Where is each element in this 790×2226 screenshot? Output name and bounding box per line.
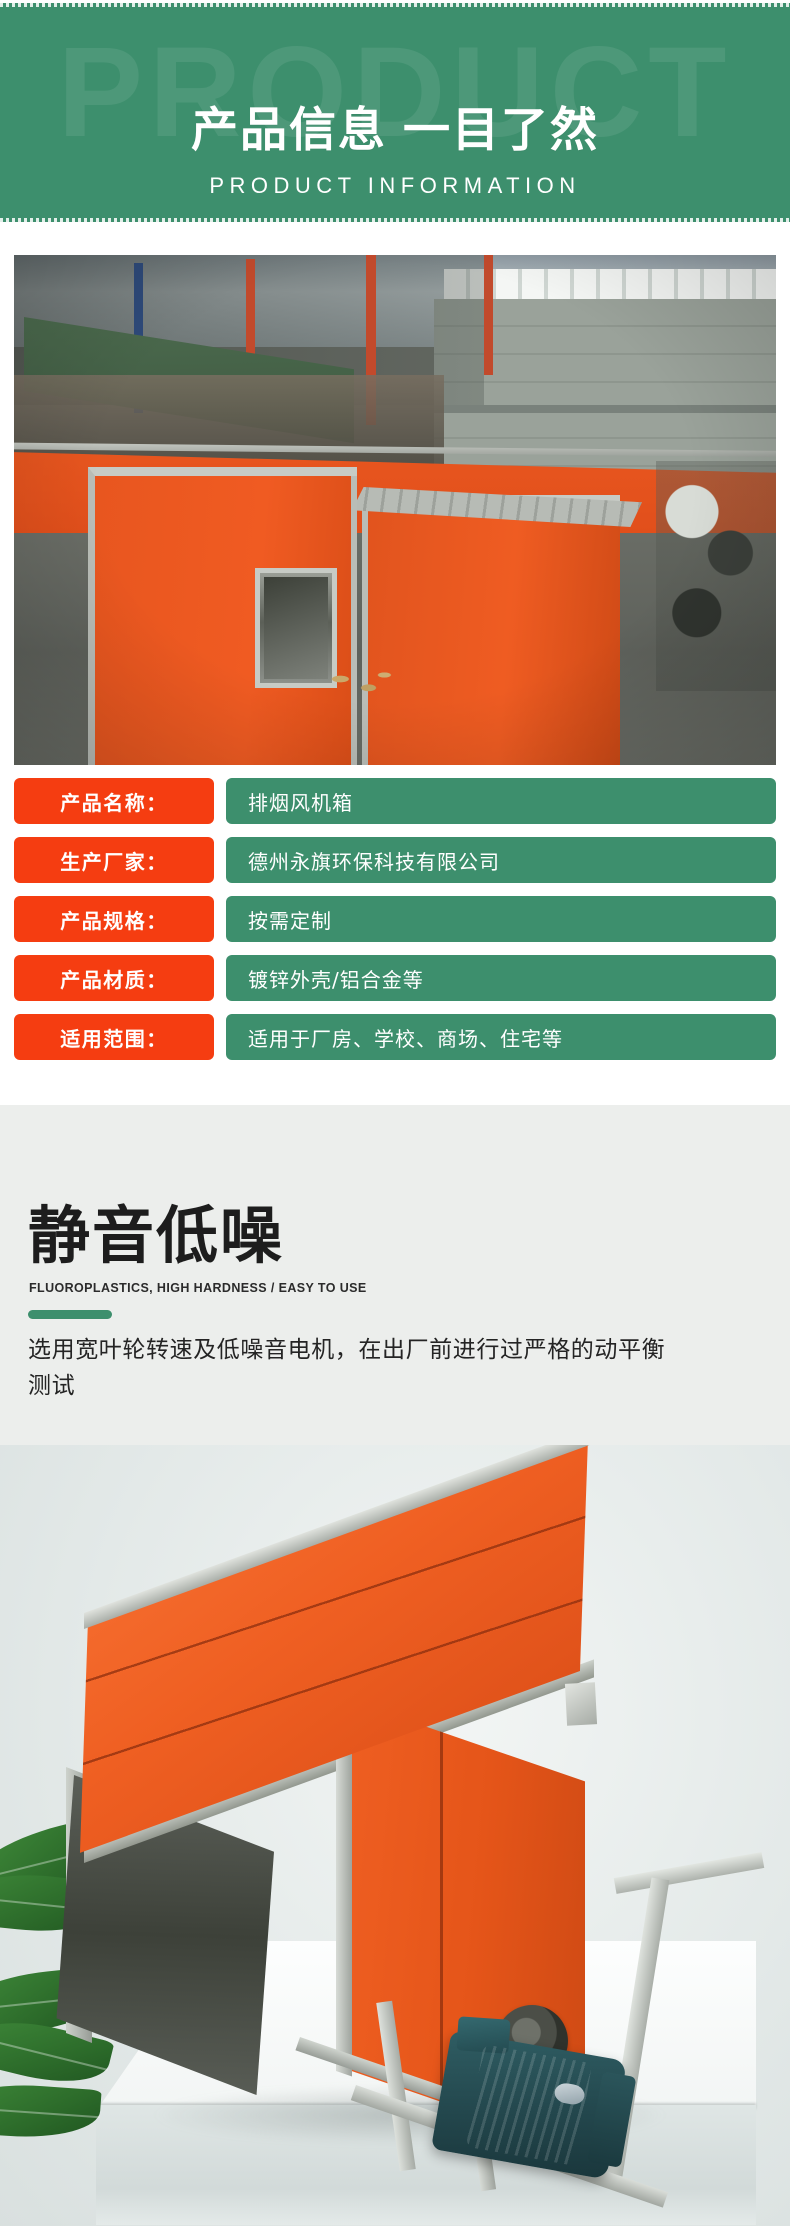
factory-photo-vignette <box>14 255 776 765</box>
spec-value-specification: 按需定制 <box>226 896 776 942</box>
spec-value-application: 适用于厂房、学校、商场、住宅等 <box>226 1014 776 1060</box>
spec-label-material: 产品材质： <box>14 955 214 1001</box>
spec-label-product-name: 产品名称： <box>14 778 214 824</box>
table-row: 生产厂家： 德州永旗环保科技有限公司 <box>14 837 776 883</box>
product-detail-page: PRODUCT 产品信息一目了然 PRODUCT INFORMATION <box>0 0 790 2226</box>
factory-photo <box>14 255 776 765</box>
page-title-part-2: 一目了然 <box>403 103 599 158</box>
table-row: 产品名称： 排烟风机箱 <box>14 778 776 824</box>
fan-box-side-seam <box>440 1731 443 2102</box>
table-row: 产品规格： 按需定制 <box>14 896 776 942</box>
spec-table: 产品名称： 排烟风机箱 生产厂家： 德州永旗环保科技有限公司 产品规格： 按需定… <box>14 778 776 1060</box>
page-subtitle: PRODUCT INFORMATION <box>0 175 790 197</box>
page-title: 产品信息一目了然 <box>0 107 790 154</box>
spec-value-product-name: 排烟风机箱 <box>226 778 776 824</box>
header-bottom-dotted-border <box>0 218 790 222</box>
spec-label-specification: 产品规格： <box>14 896 214 942</box>
feature-section-low-noise: 静音低噪 FLUOROPLASTICS, HIGH HARDNESS / EAS… <box>0 1105 790 1445</box>
feature-title: 静音低噪 <box>28 1205 284 1267</box>
fan-box-corner-bracket <box>565 1682 597 1726</box>
spec-value-manufacturer: 德州永旗环保科技有限公司 <box>226 837 776 883</box>
page-title-part-1: 产品信息 <box>191 103 387 158</box>
motor-cooling-fins <box>466 2044 592 2166</box>
spec-value-material: 镀锌外壳/铝合金等 <box>226 955 776 1001</box>
spec-label-manufacturer: 生产厂家： <box>14 837 214 883</box>
feature-accent-divider <box>28 1310 112 1319</box>
spec-label-application: 适用范围： <box>14 1014 214 1060</box>
feature-body-text: 选用宽叶轮转速及低噪音电机，在出厂前进行过严格的动平衡测试 <box>28 1333 668 1404</box>
feature-english-caption: FLUOROPLASTICS, HIGH HARDNESS / EASY TO … <box>29 1282 367 1295</box>
table-row: 产品材质： 镀锌外壳/铝合金等 <box>14 955 776 1001</box>
page-header-banner: PRODUCT 产品信息一目了然 PRODUCT INFORMATION <box>0 3 790 222</box>
leaf-vein <box>0 2106 100 2118</box>
header-top-dotted-border <box>0 3 790 7</box>
product-photo <box>0 1445 790 2226</box>
table-row: 适用范围： 适用于厂房、学校、商场、住宅等 <box>14 1014 776 1060</box>
